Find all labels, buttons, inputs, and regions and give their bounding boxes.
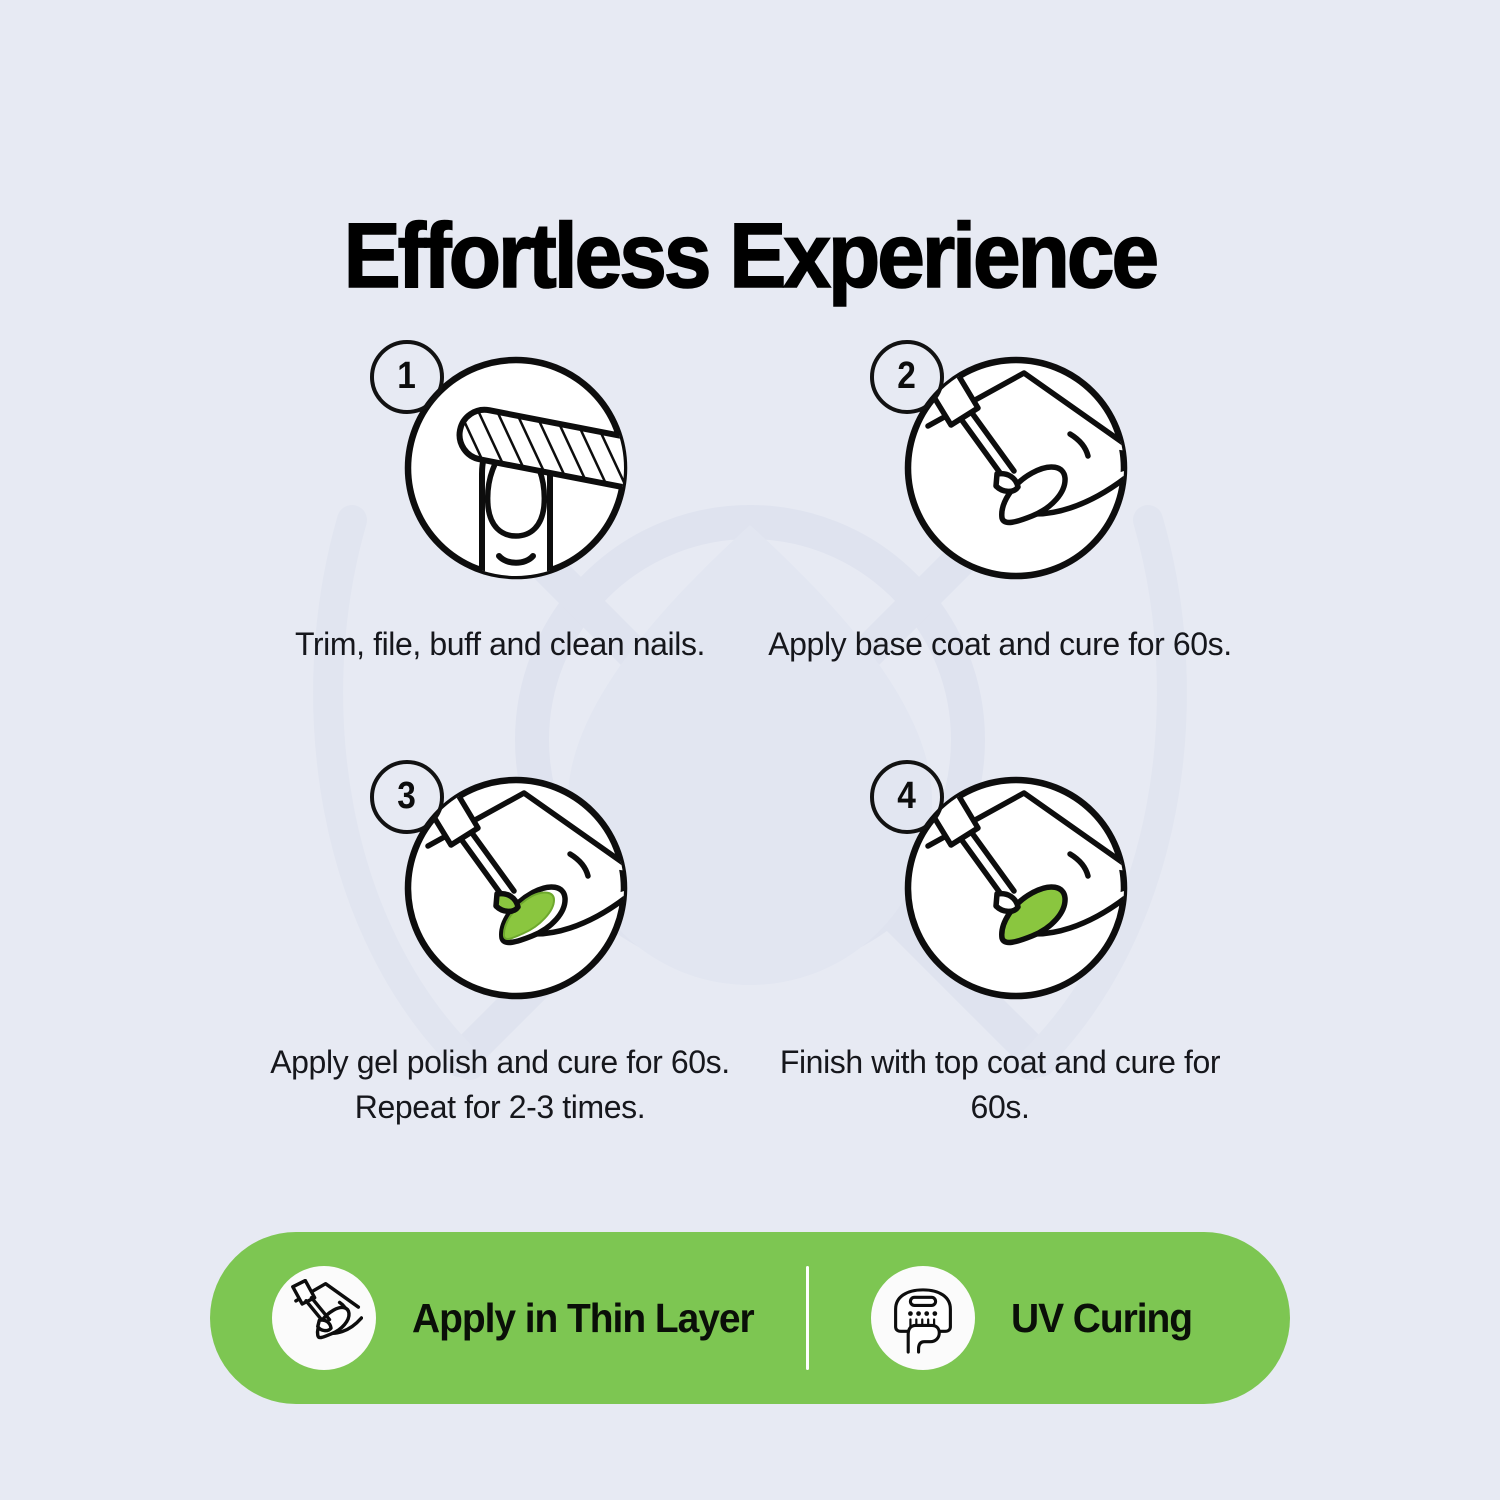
step-caption-3: Apply gel polish and cure for 60s. Repea… xyxy=(265,1040,735,1131)
step-caption-2: Apply base coat and cure for 60s. xyxy=(765,622,1235,667)
step-card-1: 1 xyxy=(250,336,750,756)
step-4-artwork: 4 xyxy=(860,756,1140,1018)
step-number-label-2: 2 xyxy=(898,357,917,395)
step-caption-4: Finish with top coat and cure for 60s. xyxy=(765,1040,1235,1131)
step-number-badge-4: 4 xyxy=(870,760,944,834)
step-number-badge-1: 1 xyxy=(370,340,444,414)
step-number-badge-2: 2 xyxy=(870,340,944,414)
step-2-artwork: 2 xyxy=(860,336,1140,598)
page-title: Effortless Experience xyxy=(344,210,1157,302)
step-number-label-4: 4 xyxy=(898,777,917,815)
step-caption-1: Trim, file, buff and clean nails. xyxy=(265,622,735,667)
footer-item-apply-in-thin-layer[interactable]: Apply in Thin Layer xyxy=(210,1232,806,1404)
infographic-page: Effortless Experience 1 xyxy=(0,0,1500,1500)
footer-feature-bar: Apply in Thin Layer xyxy=(210,1232,1290,1404)
step-number-label-3: 3 xyxy=(398,777,417,815)
steps-grid: 1 xyxy=(250,336,1250,1176)
footer-item-uv-curing[interactable]: UV Curing xyxy=(809,1232,1290,1404)
step-number-badge-3: 3 xyxy=(370,760,444,834)
step-1-artwork: 1 xyxy=(360,336,640,598)
footer-label-apply-in-thin-layer: Apply in Thin Layer xyxy=(412,1298,754,1339)
step-number-label-1: 1 xyxy=(398,357,417,395)
step-card-3: 3 xyxy=(250,756,750,1176)
step-card-2: 2 xyxy=(750,336,1250,756)
uv-lamp-curing-icon xyxy=(871,1266,975,1370)
title-container: Effortless Experience xyxy=(0,148,1500,363)
footer-label-uv-curing: UV Curing xyxy=(1011,1298,1192,1339)
brush-on-nail-icon xyxy=(272,1266,376,1370)
step-3-artwork: 3 xyxy=(360,756,640,1018)
step-card-4: 4 xyxy=(750,756,1250,1176)
